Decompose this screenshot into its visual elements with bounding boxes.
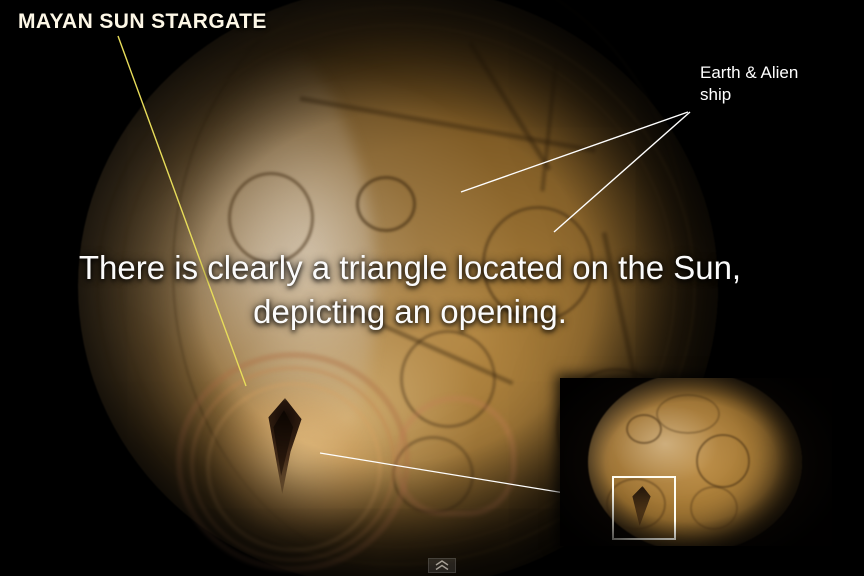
- presentation-slide: MAYAN SUN STARGATE Earth & Alien ship Th…: [0, 0, 864, 576]
- callout-line-2: ship: [700, 84, 850, 106]
- inset-vignette: [560, 378, 832, 546]
- caption-line-2: depicting an opening.: [0, 290, 820, 334]
- expand-toolbar-button[interactable]: [428, 558, 456, 573]
- callout-earth-alien-ship: Earth & Alien ship: [700, 62, 850, 106]
- carved-scallop: [396, 396, 516, 516]
- page-title: MAYAN SUN STARGATE: [18, 10, 267, 34]
- slide-caption: There is clearly a triangle located on t…: [0, 246, 820, 333]
- stargate-glow: [196, 374, 396, 564]
- inset-thumbnail[interactable]: [560, 378, 832, 546]
- chevron-double-up-icon: [435, 560, 449, 571]
- caption-line-1: There is clearly a triangle located on t…: [79, 249, 741, 286]
- callout-line-1: Earth & Alien: [700, 62, 850, 84]
- carved-glyph-ring-2: [356, 176, 416, 232]
